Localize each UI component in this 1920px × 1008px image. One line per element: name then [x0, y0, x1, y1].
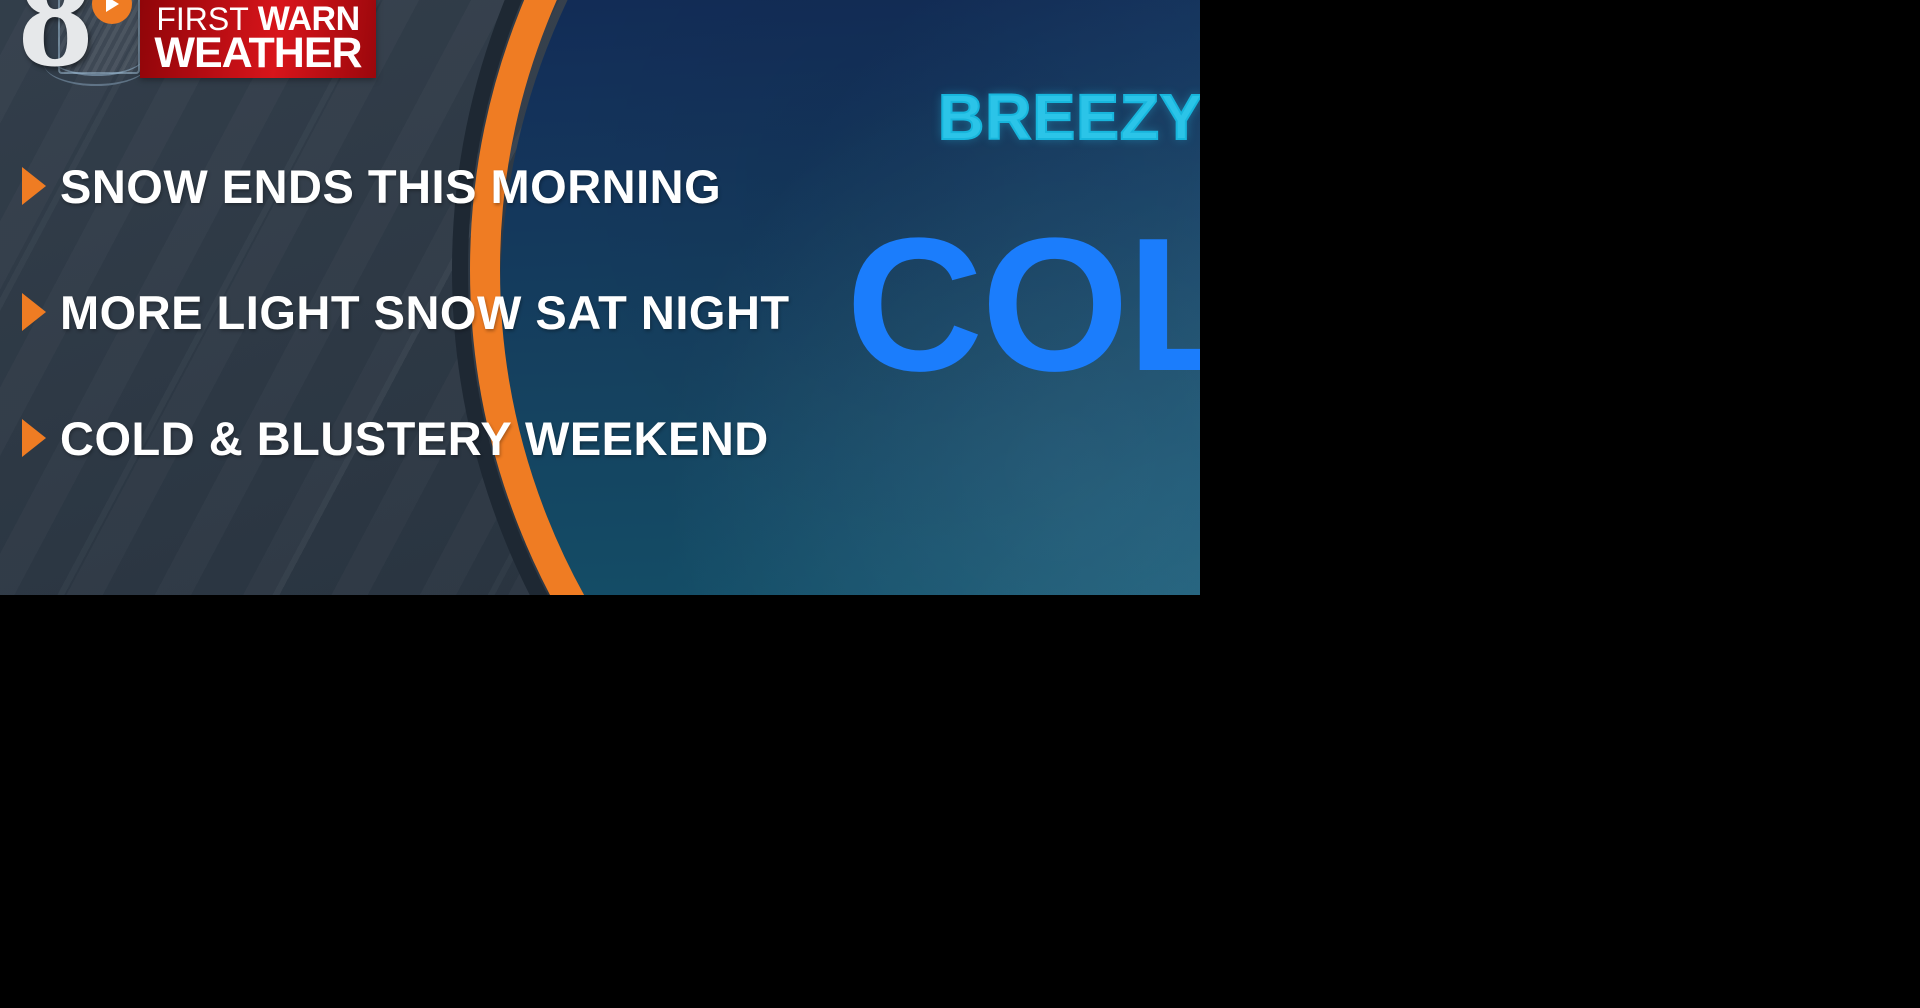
triangle-bullet-icon [22, 167, 46, 205]
list-item: COLD & BLUSTERY WEEKEND [22, 400, 722, 476]
bullet-text: SNOW ENDS THIS MORNING [60, 163, 721, 210]
list-item: SNOW ENDS THIS MORNING [22, 148, 722, 224]
first-warn-weather-badge: FIRST WARN WEATHER [140, 0, 376, 78]
brand-line-two: WEATHER [140, 34, 376, 74]
station-logo: 8 FIRST WARN WEATHER [18, 0, 376, 88]
headline-breezy: BREEZY [938, 85, 1200, 149]
bullet-text: COLD & BLUSTERY WEEKEND [60, 415, 769, 462]
bullet-text: MORE LIGHT SNOW SAT NIGHT [60, 289, 790, 336]
triangle-bullet-icon [22, 419, 46, 457]
forecast-bullet-list: SNOW ENDS THIS MORNING MORE LIGHT SNOW S… [22, 148, 722, 476]
list-item: MORE LIGHT SNOW SAT NIGHT [22, 274, 722, 350]
screen-stage: 8 FIRST WARN WEATHER SNOW ENDS THIS M [0, 0, 1920, 1008]
triangle-bullet-icon [22, 293, 46, 331]
channel-8-mark: 8 [18, 0, 122, 88]
weather-graphic: 8 FIRST WARN WEATHER SNOW ENDS THIS M [0, 0, 1200, 595]
headline-cold: COLD [846, 210, 1200, 400]
channel-number: 8 [18, 0, 89, 90]
